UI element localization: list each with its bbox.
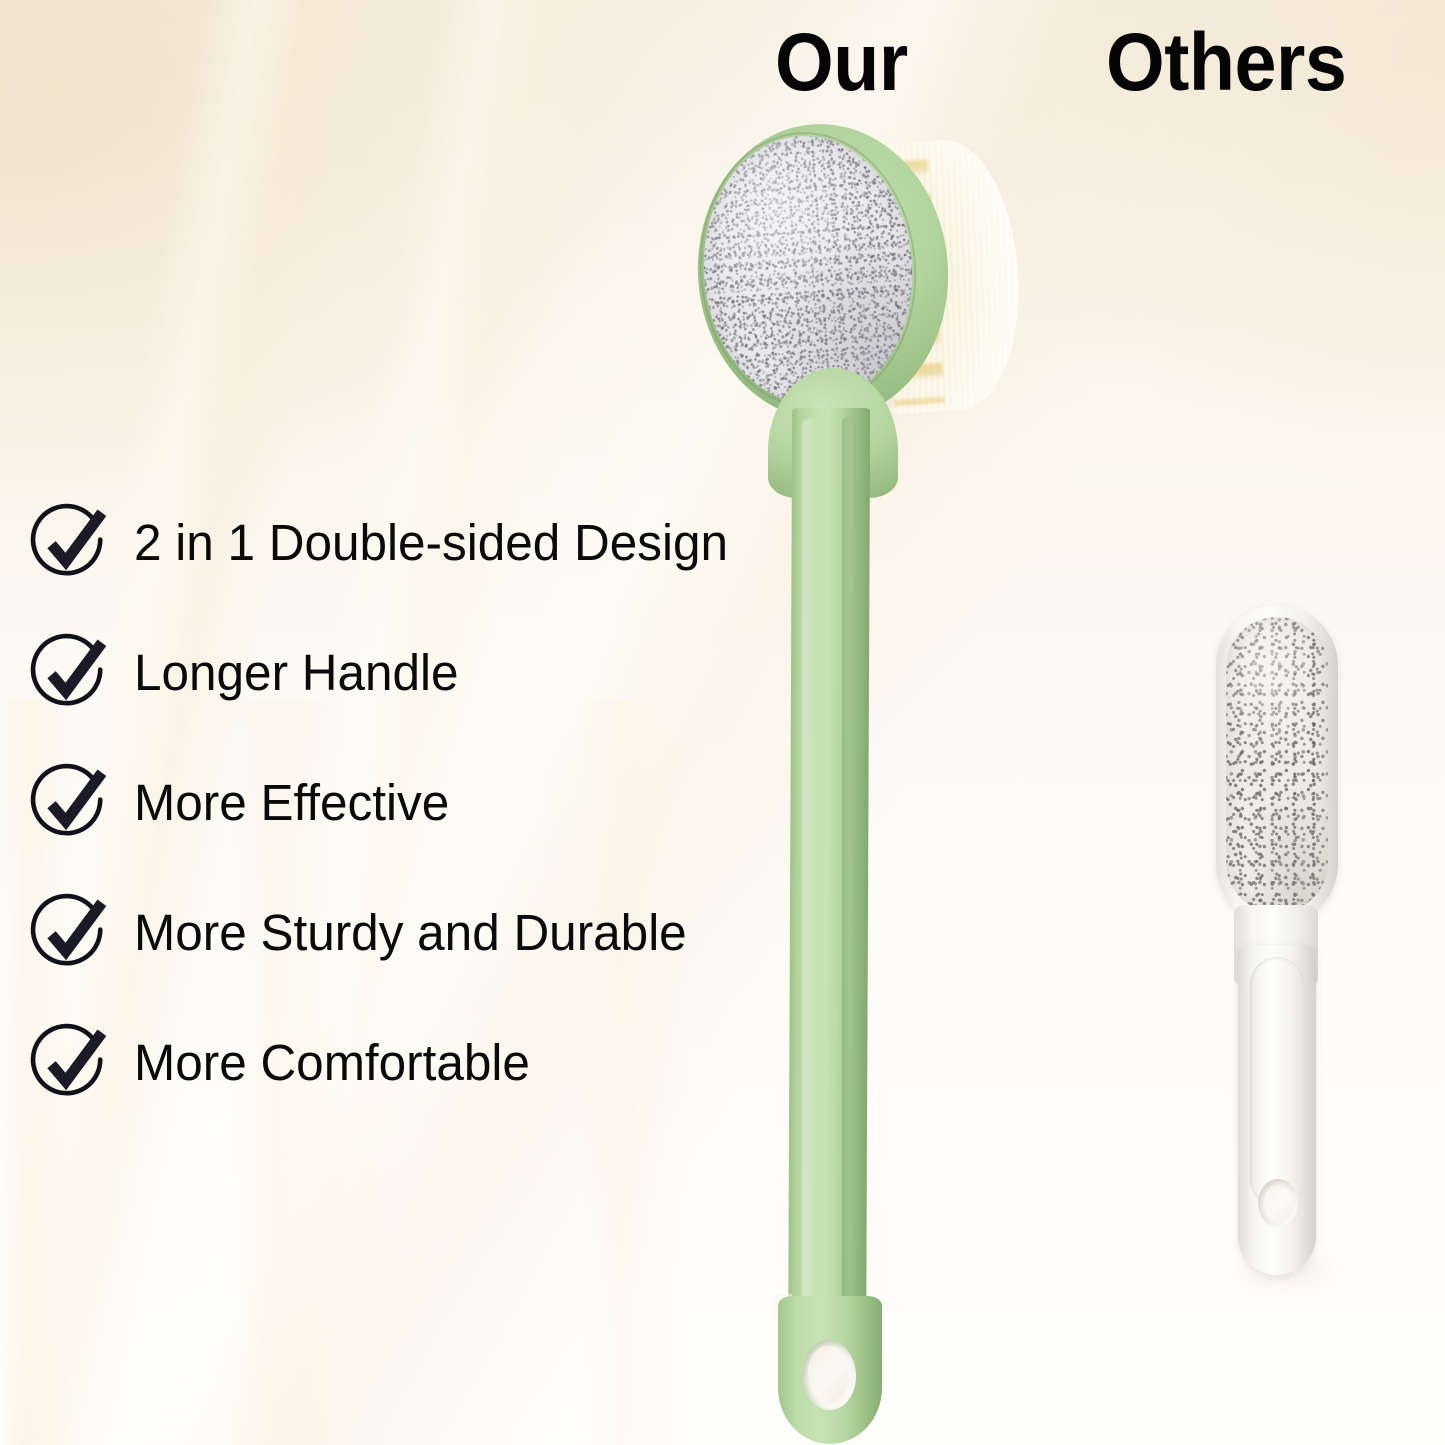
feature-label: More Effective xyxy=(134,776,449,830)
feature-label: More Sturdy and Durable xyxy=(134,906,687,960)
list-item: More Effective xyxy=(24,738,784,868)
feature-label: Longer Handle xyxy=(134,646,459,700)
check-circle-icon xyxy=(28,1021,112,1105)
check-circle-icon xyxy=(28,891,112,975)
product-comparison-image: Our Others 2 in 1 Double-sided Design Lo… xyxy=(0,0,1445,1445)
handle-shaft xyxy=(788,408,870,1408)
others-pumice-shading xyxy=(1226,617,1328,913)
list-item: More Comfortable xyxy=(24,998,784,1128)
list-item: 2 in 1 Double-sided Design xyxy=(24,478,784,608)
list-item: More Sturdy and Durable xyxy=(24,868,784,998)
others-product-image xyxy=(1198,605,1368,1285)
check-circle-icon xyxy=(28,761,112,845)
handle-ridge xyxy=(842,418,849,1393)
others-hanging-hole-inner xyxy=(1264,1185,1292,1221)
our-product-image xyxy=(690,118,1040,1445)
others-handle-groove xyxy=(1250,957,1304,1207)
others-pumice-pad xyxy=(1226,617,1328,913)
handle-highlight xyxy=(802,418,818,1398)
check-circle-icon xyxy=(28,631,112,715)
feature-list: 2 in 1 Double-sided Design Longer Handle… xyxy=(24,478,784,1128)
column-header-others: Others xyxy=(1106,22,1346,104)
feature-label: 2 in 1 Double-sided Design xyxy=(134,516,728,570)
list-item: Longer Handle xyxy=(24,608,784,738)
column-header-our: Our xyxy=(775,22,908,104)
feature-label: More Comfortable xyxy=(134,1036,530,1090)
check-circle-icon xyxy=(28,501,112,585)
